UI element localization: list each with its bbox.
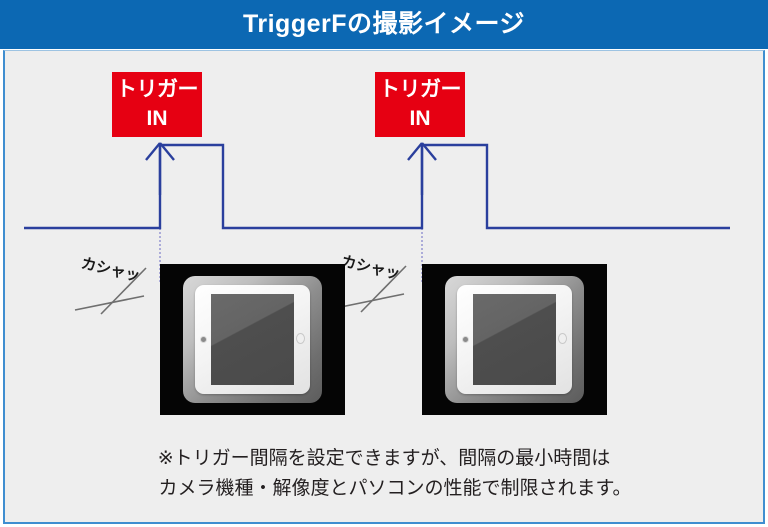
- page-title: TriggerFの撮影イメージ: [0, 0, 768, 49]
- tablet-bezel: [457, 285, 572, 394]
- trigger-in-label-1-line2: IN: [112, 104, 202, 133]
- footnote-line-2: カメラ機種・解像度とパソコンの性能で制限されます。: [0, 474, 768, 504]
- trigger-in-label-2-line1: トリガー: [375, 76, 465, 104]
- tablet-bezel: [195, 285, 310, 394]
- trigger-f-diagram: TriggerFの撮影イメージ トリガー: [0, 0, 768, 527]
- footnote-line-1: ※トリガー間隔を設定できますが、間隔の最小時間は: [0, 444, 768, 474]
- home-button-icon: [296, 333, 305, 344]
- home-button-icon: [558, 333, 567, 344]
- camera-capture-photo-1: [160, 264, 345, 415]
- front-camera-icon: [201, 337, 206, 342]
- tablet-screen: [473, 294, 556, 386]
- camera-capture-photo-2: [422, 264, 607, 415]
- trigger-in-label-1-line1: トリガー: [112, 76, 202, 104]
- footnote: ※トリガー間隔を設定できますが、間隔の最小時間は カメラ機種・解像度とパソコンの…: [0, 444, 768, 504]
- tablet-body: [183, 276, 322, 403]
- tablet-screen: [211, 294, 294, 386]
- trigger-in-label-2-line2: IN: [375, 104, 465, 133]
- front-camera-icon: [463, 337, 468, 342]
- header-bar: TriggerFの撮影イメージ: [0, 0, 768, 49]
- tablet-body: [445, 276, 584, 403]
- trigger-in-badge-2: トリガー IN: [375, 72, 465, 137]
- trigger-in-badge-1: トリガー IN: [112, 72, 202, 137]
